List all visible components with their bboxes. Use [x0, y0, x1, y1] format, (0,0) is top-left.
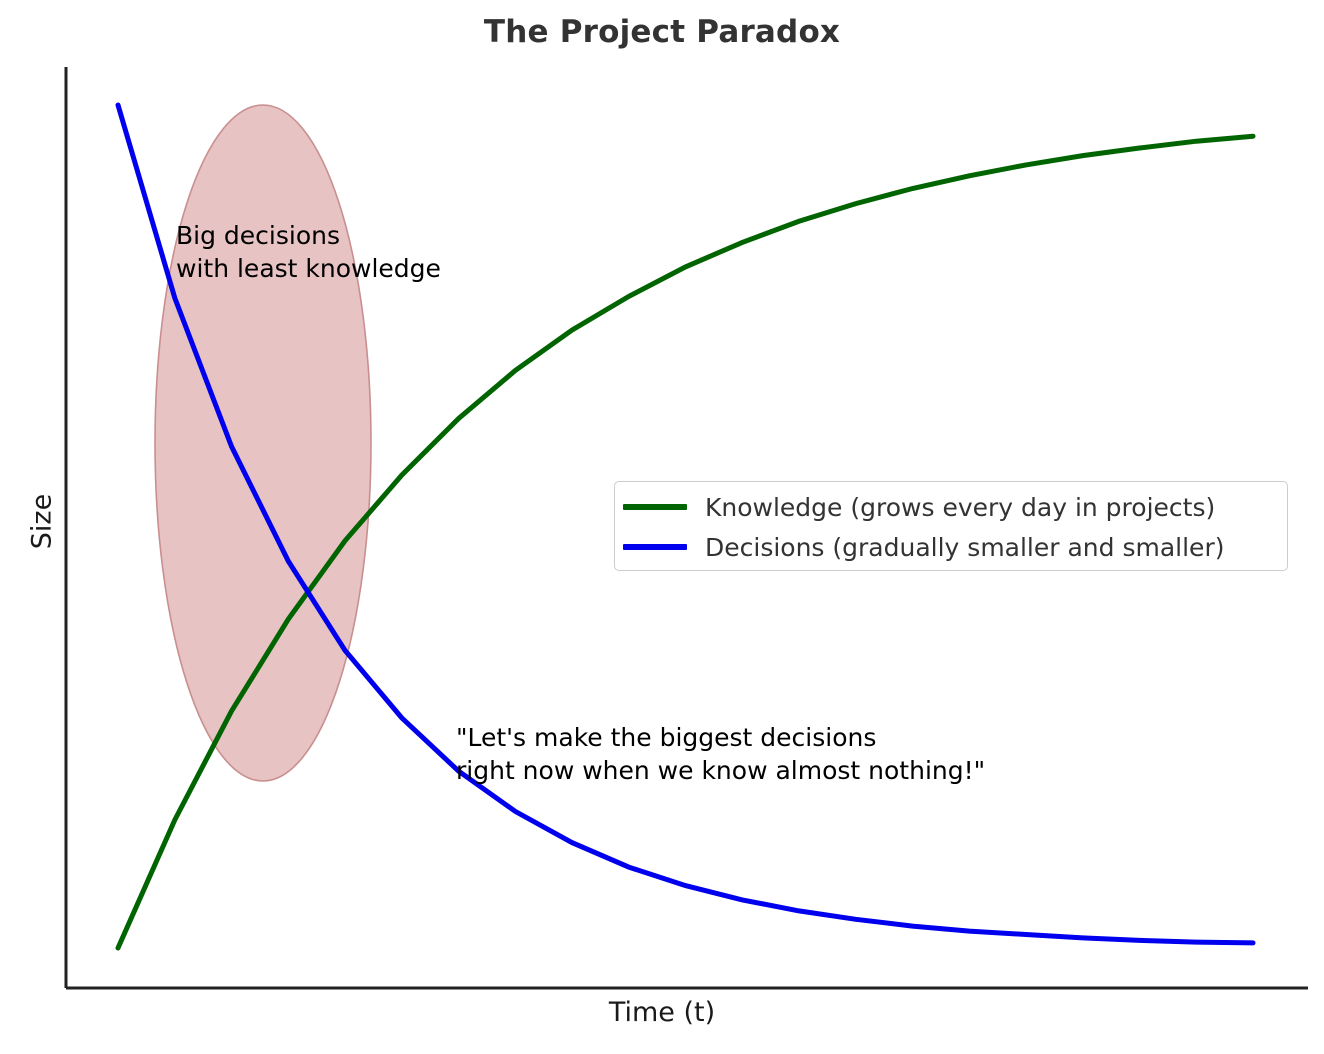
legend-item-decisions[interactable]: Decisions (gradually smaller and smaller…	[623, 527, 1224, 567]
legend-color-swatch-knowledge	[623, 504, 687, 510]
legend: Knowledge (grows every day in projects) …	[614, 481, 1288, 571]
highlight-ellipse	[155, 105, 371, 781]
annotation-quote: "Let's make the biggest decisions right …	[456, 722, 985, 787]
annotation-big-decisions: Big decisions with least knowledge	[176, 220, 441, 285]
x-axis-label: Time (t)	[0, 997, 1324, 1028]
chart-figure: The Project Paradox Time (t) Size Big de…	[0, 0, 1324, 1054]
legend-item-knowledge[interactable]: Knowledge (grows every day in projects)	[623, 487, 1215, 527]
legend-label-knowledge: Knowledge (grows every day in projects)	[705, 493, 1215, 522]
y-axis-label: Size	[27, 462, 58, 582]
legend-label-decisions: Decisions (gradually smaller and smaller…	[705, 533, 1224, 562]
legend-color-swatch-decisions	[623, 544, 687, 550]
